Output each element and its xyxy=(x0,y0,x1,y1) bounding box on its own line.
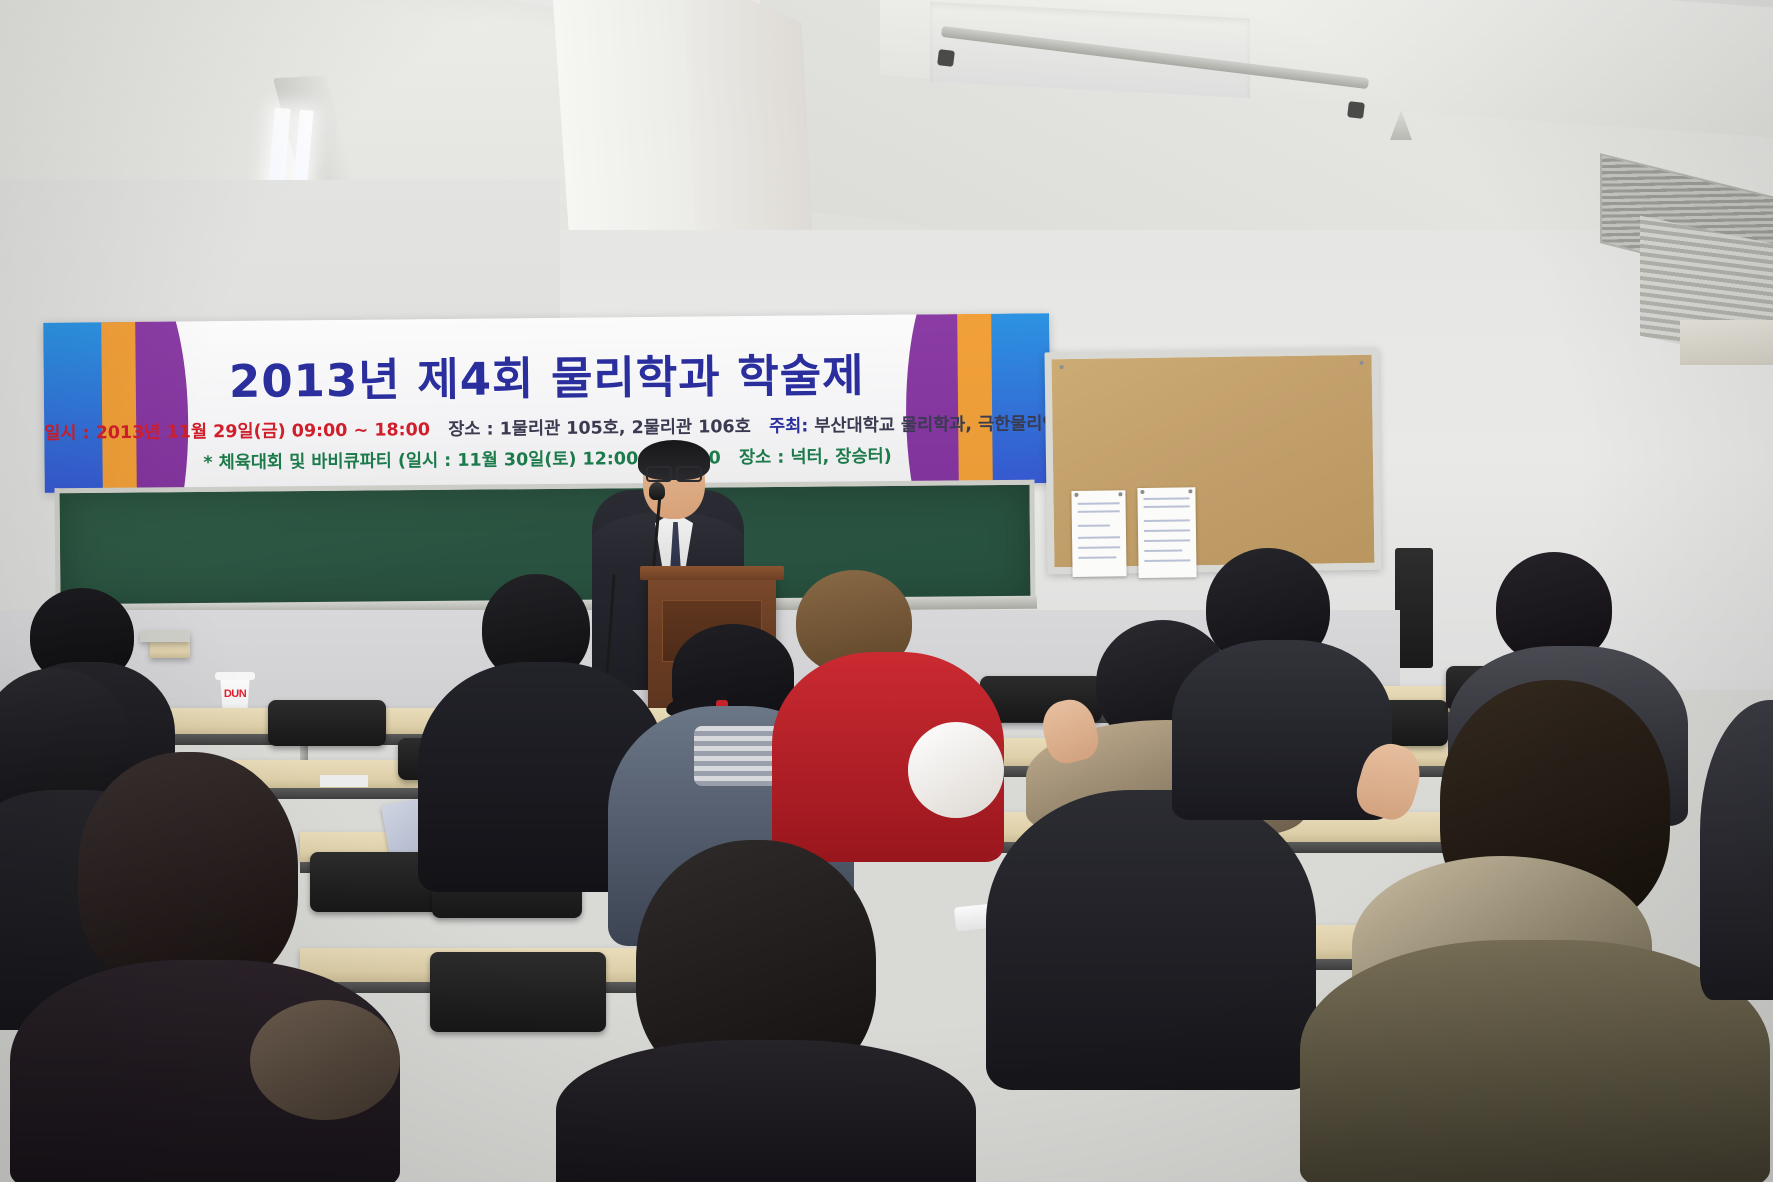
eyeglasses-icon xyxy=(646,466,702,478)
banner-star-marker: * xyxy=(203,453,212,473)
chair-label-tag xyxy=(320,775,368,787)
lecture-hall-photo: 2013년 제4회 물리학과 학술제 일시 : 2013년 11월 29일(금)… xyxy=(0,0,1773,1182)
wall-speaker xyxy=(1395,548,1433,668)
event-banner: 2013년 제4회 물리학과 학술제 일시 : 2013년 11월 29일(금)… xyxy=(43,313,1051,493)
board-pin-tr xyxy=(1360,361,1364,365)
banner-place-label: 장소 : xyxy=(448,420,493,440)
banner-host-value: 부산대학교 물리학과, 극한물리연구소 xyxy=(814,414,1051,437)
body xyxy=(1700,700,1773,1000)
body xyxy=(986,790,1316,1090)
rail-cap-right xyxy=(1347,101,1365,119)
podium-top-surface xyxy=(640,566,784,580)
fur-trim xyxy=(908,722,1004,818)
body xyxy=(556,1040,976,1182)
chair-front-left[interactable] xyxy=(430,952,606,1032)
ac-unit-housing xyxy=(1680,320,1773,365)
fur-hood xyxy=(250,1000,400,1120)
scarf xyxy=(694,726,782,786)
banner-host-label: 주최: xyxy=(769,416,808,436)
banner-title: 2013년 제4회 물리학과 학술제 xyxy=(43,337,1050,412)
chair-back-1[interactable] xyxy=(268,700,386,746)
banner-date-value: 2013년 11월 29일(금) 09:00 ~ 18:00 xyxy=(96,420,431,443)
banner-side-place-label: 장소 : xyxy=(739,448,784,468)
microphone-icon xyxy=(649,482,665,500)
coffee-cup-lid xyxy=(215,672,255,680)
coffee-cup-logo: DUN xyxy=(221,688,249,700)
banner-place-value: 1물리관 105호, 2물리관 106호 xyxy=(500,417,751,439)
side-table xyxy=(150,640,190,658)
cork-bulletin-board xyxy=(1044,348,1381,575)
banner-side-event-name: 체육대회 및 바비큐파티 xyxy=(219,451,392,473)
board-paper-left xyxy=(1071,490,1126,577)
banner-side-place-value: 넉터, 장승터) xyxy=(790,447,891,468)
board-pin-tl xyxy=(1060,365,1064,369)
head xyxy=(78,752,298,992)
side-table-top xyxy=(140,630,190,642)
banner-date-label: 일시 : xyxy=(44,423,89,443)
board-paper-right xyxy=(1137,487,1196,578)
rail-cap-left xyxy=(937,49,955,67)
